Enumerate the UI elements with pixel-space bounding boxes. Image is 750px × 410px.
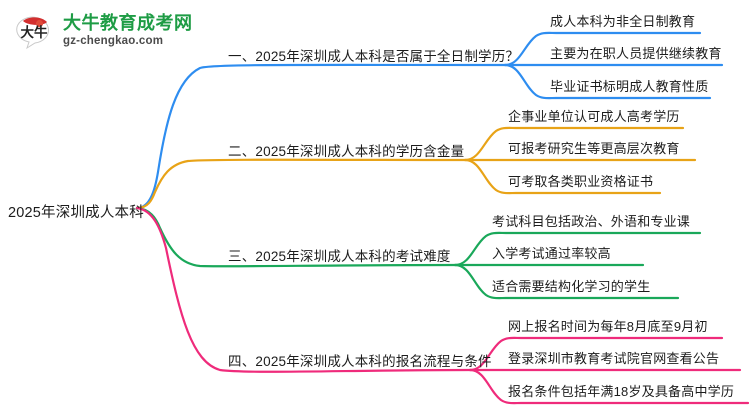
leaf-label-4-1[interactable]: 网上报名时间为每年8月底至9月初 <box>508 316 708 335</box>
leaf-label-4-2[interactable]: 登录深圳市教育考试院官网查看公告 <box>508 348 719 367</box>
leaf-label-1-3[interactable]: 毕业证书标明成人教育性质 <box>550 76 708 95</box>
mindmap-page: 大牛 大牛教育成考网 gz-chengkao.com <box>0 0 750 410</box>
leaf-label-3-3[interactable]: 适合需要结构化学习的学生 <box>492 276 650 295</box>
leaf-label-1-2[interactable]: 主要为在职人员提供继续教育 <box>550 43 722 62</box>
branch-label-1[interactable]: 一、2025年深圳成人本科是否属于全日制学历？ <box>228 45 519 65</box>
branch-connector-4 <box>137 208 748 403</box>
leaf-label-3-1[interactable]: 考试科目包括政治、外语和专业课 <box>492 211 690 230</box>
leaf-label-2-1[interactable]: 企事业单位认可成人高考学历 <box>508 106 680 125</box>
leaf-label-1-1[interactable]: 成人本科为非全日制教育 <box>550 11 695 30</box>
root-node-label[interactable]: 2025年深圳成人本科 <box>8 201 144 222</box>
branch-label-4[interactable]: 四、2025年深圳成人本科的报名流程与条件 <box>228 350 492 370</box>
leaf-label-2-3[interactable]: 可考取各类职业资格证书 <box>508 171 653 190</box>
branch-label-2[interactable]: 二、2025年深圳成人本科的学历含金量 <box>228 140 464 160</box>
leaf-label-4-3[interactable]: 报名条件包括年满18岁及具备高中学历 <box>508 381 734 400</box>
leaf-label-3-2[interactable]: 入学考试通过率较高 <box>492 243 611 262</box>
leaf-label-2-2[interactable]: 可报考研究生等更高层次教育 <box>508 138 680 157</box>
branch-label-3[interactable]: 三、2025年深圳成人本科的考试难度 <box>228 245 451 265</box>
